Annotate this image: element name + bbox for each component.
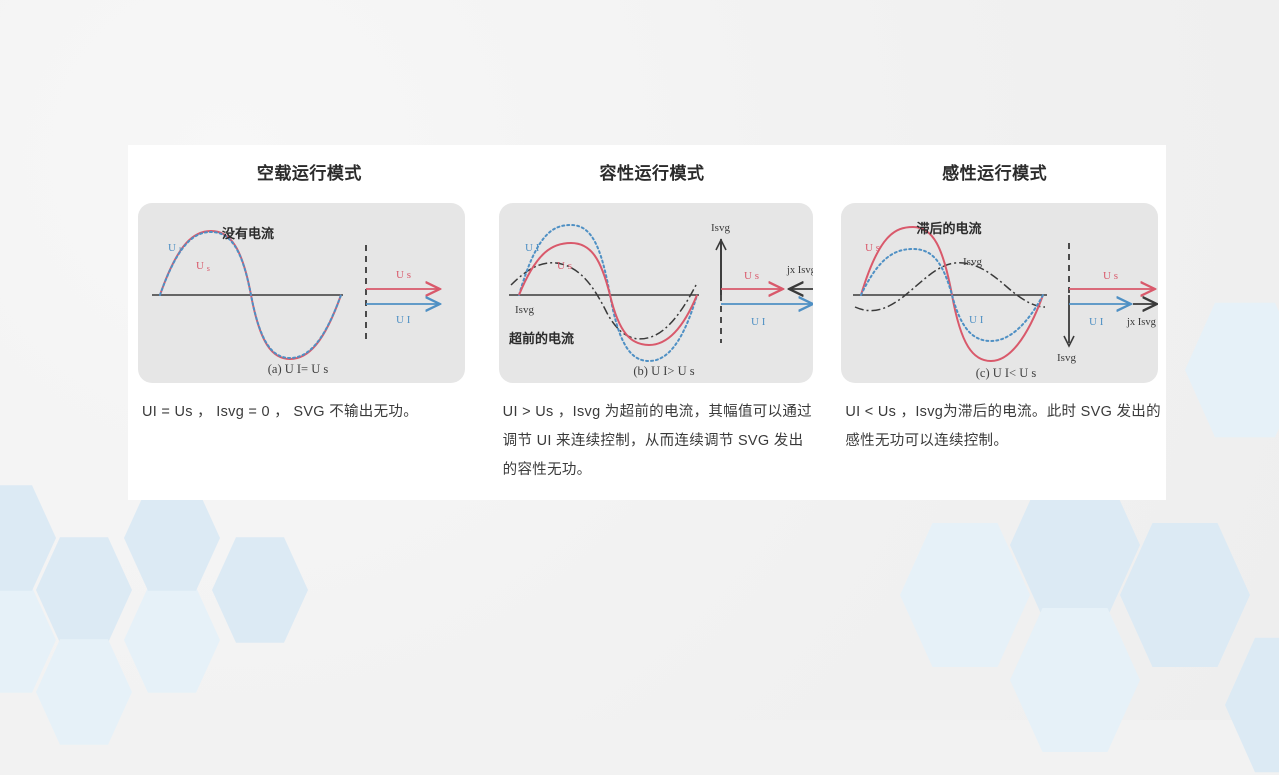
phasor-label-jx-isvg: jx Isvg bbox=[1126, 317, 1157, 328]
caption-inductive: UI < Us ，Isvg为滞后的电流。此时 SVG 发出的感性无功可以连续控制… bbox=[845, 398, 1162, 456]
phasor-label-ui: U I bbox=[1089, 316, 1104, 328]
phasor-label-us: U s bbox=[1103, 270, 1118, 282]
mode-column-no-load: 空载运行模式 bbox=[128, 145, 481, 500]
waveform-label-isvg: Isvg bbox=[963, 256, 982, 268]
phasor-label-ui: U I bbox=[396, 314, 411, 326]
panel-note-leading-current: 超前的电流 bbox=[509, 331, 574, 346]
panel-subcaption-b: (b) U I> U s bbox=[633, 364, 694, 378]
panel-note-no-current: 没有电流 bbox=[222, 226, 274, 241]
waveform-label-us: U s bbox=[196, 260, 210, 273]
diagram-svg-inductive: U s Isvg U I 滞后的电流 Isvg U s U I jx Isvg bbox=[841, 203, 1158, 383]
caption-capacitive: UI > Us ，Isvg 为超前的电流，其幅值可以通过调节 UI 来连续控制，… bbox=[503, 398, 814, 485]
phasor-axis-label-isvg: Isvg bbox=[1057, 352, 1076, 364]
phasor-label-ui: U I bbox=[751, 316, 766, 328]
phasor-axis-label-isvg: Isvg bbox=[711, 222, 730, 234]
mode-columns: 空载运行模式 bbox=[128, 145, 1166, 500]
slide-card: 空载运行模式 bbox=[128, 145, 1166, 500]
mode-column-capacitive: 容性运行模式 bbox=[481, 145, 824, 500]
waveform-label-us: U s bbox=[865, 242, 880, 254]
diagram-panel-capacitive: U I U s Isvg 超前的电流 Isvg U s U I bbox=[499, 203, 814, 383]
panel-subcaption-c: (c) U I< U s bbox=[976, 366, 1037, 380]
phasor-label-us: U s bbox=[396, 269, 411, 281]
waveform-label-isvg: Isvg bbox=[515, 304, 534, 316]
caption-no-load: UI = Us ， Isvg = 0 ， SVG 不输出无功。 bbox=[142, 398, 473, 427]
column-heading-inductive: 感性运行模式 bbox=[823, 159, 1166, 184]
waveform-label-ui: U I bbox=[525, 242, 540, 254]
diagram-panel-inductive: U s Isvg U I 滞后的电流 Isvg U s U I jx Isvg bbox=[841, 203, 1158, 383]
phasor-label-us: U s bbox=[744, 270, 759, 282]
diagram-svg-no-load: U I U s 没有电流 U s U I (a) U I= U s bbox=[138, 203, 458, 383]
waveform-us-inductive bbox=[861, 227, 1043, 361]
waveform-us-capacitive bbox=[519, 243, 697, 345]
waveform-label-ui: U I bbox=[168, 242, 182, 255]
column-heading-no-load: 空载运行模式 bbox=[138, 159, 481, 184]
mode-column-inductive: 感性运行模式 bbox=[823, 145, 1166, 500]
column-heading-capacitive: 容性运行模式 bbox=[481, 159, 824, 184]
panel-subcaption-a: (a) U I= U s bbox=[268, 362, 329, 376]
diagram-svg-capacitive: U I U s Isvg 超前的电流 Isvg U s U I bbox=[499, 203, 814, 383]
diagram-panel-no-load: U I U s 没有电流 U s U I (a) U I= U s bbox=[138, 203, 465, 383]
phasor-label-jx-isvg: jx Isvg bbox=[786, 265, 814, 276]
panel-note-lagging-current: 滞后的电流 bbox=[917, 221, 982, 236]
waveform-label-ui: U I bbox=[969, 314, 984, 326]
waveform-label-us: U s bbox=[557, 260, 572, 272]
